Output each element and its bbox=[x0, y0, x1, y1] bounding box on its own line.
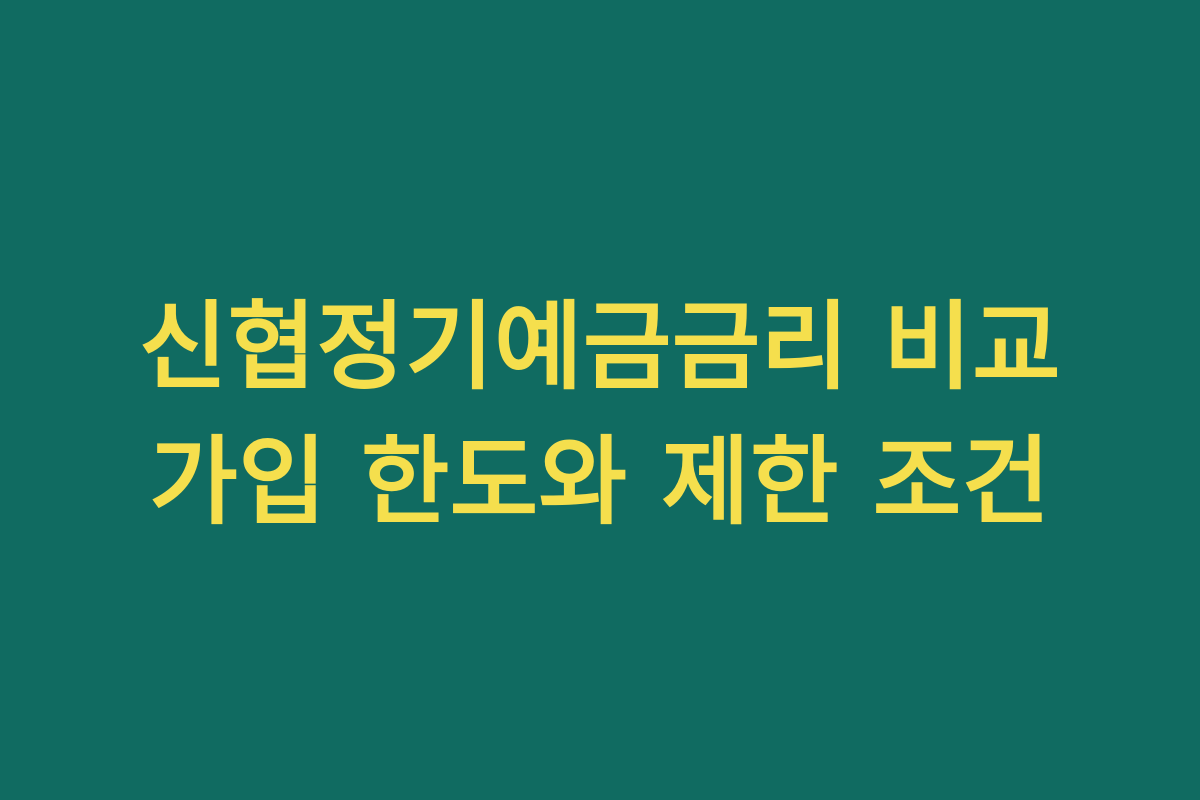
page-title: 신협정기예금금리 비교 가입 한도와 제한 조건 bbox=[0, 280, 1200, 550]
title-line-1: 신협정기예금금리 비교 bbox=[0, 280, 1200, 415]
title-line-2: 가입 한도와 제한 조건 bbox=[0, 415, 1200, 550]
thumbnail-card: 신협정기예금금리 비교 가입 한도와 제한 조건 bbox=[0, 0, 1200, 800]
